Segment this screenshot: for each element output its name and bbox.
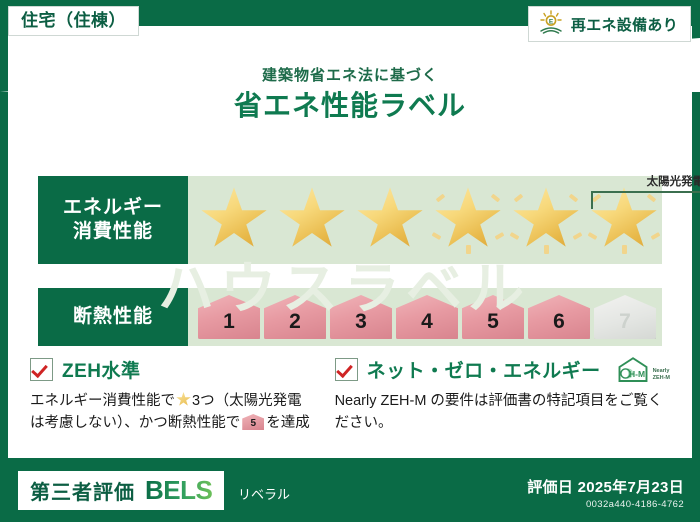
- brand-name: リベラル: [238, 484, 290, 503]
- energy-performance-row: エネルギー 消費性能: [38, 176, 662, 264]
- star-4-solar: [430, 184, 506, 256]
- insulation-performance-row-label: 断熱性能: [38, 288, 188, 346]
- evaluation-info: 評価日 2025年7月23日 0032a440-4186-4762: [527, 476, 684, 510]
- star-3: [352, 184, 428, 256]
- zeh-body-part3: を達成: [266, 415, 310, 431]
- solar-bracket: 太陽光発電(自家消費)分: [583, 175, 700, 213]
- net-zero-criterion-body: Nearly ZEH-M の要件は評価書の特記項目をご覧ください。: [335, 390, 670, 434]
- insulation-grade-1: 1: [198, 295, 260, 339]
- net-zero-criterion-title: ネット・ゼロ・エネルギー: [367, 356, 601, 383]
- sparkle-icon: [508, 184, 584, 256]
- insulation-grade-4: 4: [396, 295, 458, 339]
- svg-text:E: E: [549, 18, 554, 25]
- solar-bracket-line: [591, 191, 700, 209]
- nearly-zeh-m-logo: H-M Nearly ZEH-M: [615, 356, 670, 383]
- energy-performance-stars-area: 太陽光発電(自家消費)分: [188, 176, 662, 264]
- label-title: 省エネ性能ラベル: [8, 84, 692, 124]
- insulation-grade-6: 6: [528, 295, 590, 339]
- insulation-grade-2: 2: [264, 295, 326, 339]
- star-1: [196, 184, 272, 256]
- insulation-grade-7: 7: [594, 295, 656, 339]
- energy-label-line1: エネルギー: [63, 196, 163, 220]
- insulation-grade-scale: 1 2 3 4: [188, 288, 662, 346]
- inline-house-icon: 5: [242, 414, 264, 430]
- star-5-solar: [508, 184, 584, 256]
- zeh-criterion-title: ZEH水準: [62, 356, 141, 383]
- evaluation-date: 評価日 2025年7月23日: [527, 476, 684, 497]
- energy-performance-row-label: エネルギー 消費性能: [38, 176, 188, 264]
- energy-performance-label: 住宅（住棟） E 再エネ設備あり: [0, 0, 700, 522]
- sparkle-icon: [430, 184, 506, 256]
- zeh-criterion: ZEH水準 エネルギー消費性能で3つ（太陽光発電 は考慮しない）、かつ断熱性能で…: [30, 356, 317, 456]
- sun-icon: E: [538, 10, 564, 39]
- energy-label-line2: 消費性能: [73, 220, 153, 244]
- insulation-grade-3: 3: [330, 295, 392, 339]
- insulation-performance-row: 断熱性能 1 2 3: [38, 288, 662, 346]
- zeh-criterion-body: エネルギー消費性能で3つ（太陽光発電 は考慮しない）、かつ断熱性能で 5 を達成: [30, 390, 317, 434]
- criteria-columns: ZEH水準 エネルギー消費性能で3つ（太陽光発電 は考慮しない）、かつ断熱性能で…: [30, 356, 670, 456]
- svg-text:H-M: H-M: [629, 369, 645, 379]
- zeh-check-icon: [30, 358, 53, 381]
- renewable-energy-badge: E 再エネ設備あり: [528, 6, 691, 42]
- evaluation-id: 0032a440-4186-4762: [527, 499, 684, 510]
- nearly-zeh-m-caption: Nearly ZEH-M: [653, 368, 670, 383]
- inline-star-icon: [176, 392, 191, 407]
- main-panel: ハウスラベル 建築物省エネ法に基づく 省エネ性能ラベル エネルギー 消費性能: [8, 26, 692, 458]
- building-type-tag: 住宅（住棟）: [8, 6, 139, 36]
- zeh-body-part2: は考慮しない）、かつ断熱性能で: [30, 415, 240, 431]
- net-zero-check-icon: [335, 358, 358, 381]
- zeh-body-star-count: 3つ（太陽光発電: [192, 393, 302, 409]
- solar-bracket-label: 太陽光発電(自家消費)分: [583, 173, 700, 189]
- bels-certification-mark: 第三者評価 BELS: [18, 471, 224, 510]
- net-zero-criterion: ネット・ゼロ・エネルギー H-M Nearly ZEH-M: [335, 356, 670, 456]
- bels-logo: BELS: [145, 475, 212, 506]
- label-subtitle: 建築物省エネ法に基づく: [8, 64, 692, 85]
- zeh-body-part1: エネルギー消費性能で: [30, 393, 175, 409]
- insulation-grades-area: 1 2 3 4: [188, 288, 662, 346]
- insulation-grade-5: 5: [462, 295, 524, 339]
- third-party-eval-label: 第三者評価: [30, 476, 135, 505]
- star-2: [274, 184, 350, 256]
- renewable-energy-badge-label: 再エネ設備あり: [571, 14, 678, 35]
